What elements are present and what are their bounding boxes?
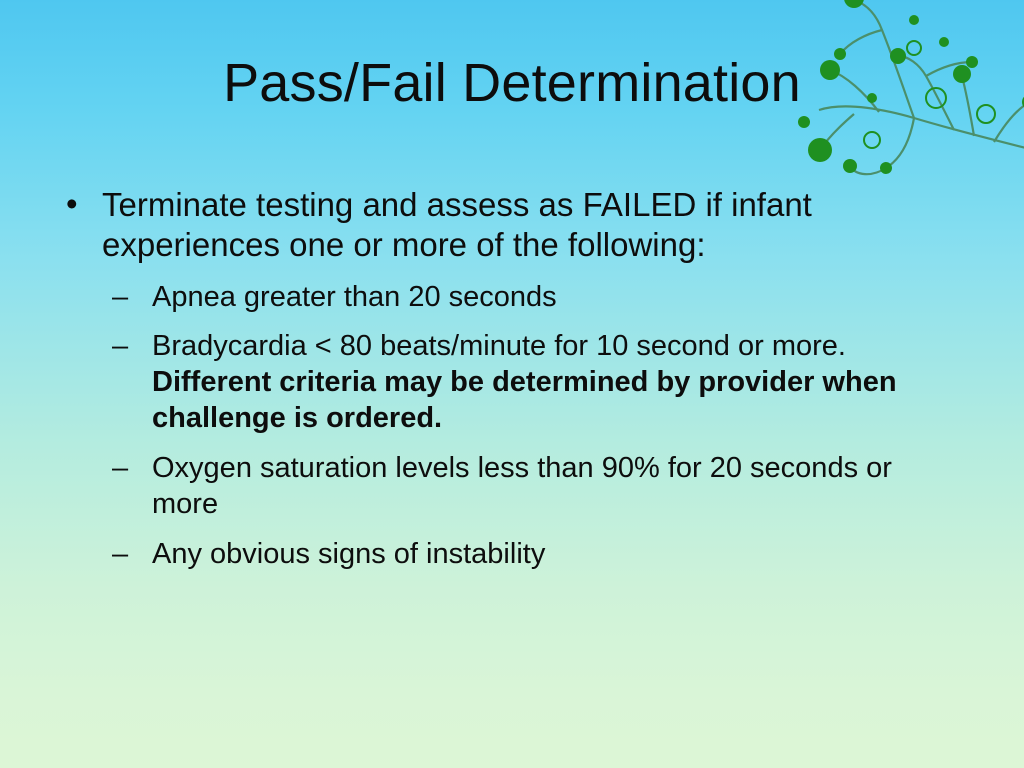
page-title: Pass/Fail Determination <box>0 54 1024 113</box>
bullet-item-level2: – Apnea greater than 20 seconds <box>56 280 966 316</box>
bullet-item-level1-text: Terminate testing and assess as FAILED i… <box>102 186 812 263</box>
bullet-item-level2-text: Oxygen saturation levels less than 90% f… <box>152 452 892 520</box>
bullet-item-level2-bold: Different criteria may be determined by … <box>152 366 897 434</box>
dash-glyph-icon: – <box>112 451 128 487</box>
bullet-item-level2: – Bradycardia < 80 beats/minute for 10 s… <box>56 329 966 437</box>
bullet-glyph-icon: • <box>66 184 78 224</box>
bullet-item-level2: – Oxygen saturation levels less than 90%… <box>56 451 966 523</box>
bullet-item-level2-text: Apnea greater than 20 seconds <box>152 281 557 313</box>
dash-glyph-icon: – <box>112 329 128 365</box>
bullet-item-level2-text: Any obvious signs of instability <box>152 538 545 570</box>
bullet-item-level2: – Any obvious signs of instability <box>56 537 966 573</box>
dash-glyph-icon: – <box>112 537 128 573</box>
bullet-item-level2-text: Bradycardia < 80 beats/minute for 10 sec… <box>152 330 846 362</box>
dash-glyph-icon: – <box>112 280 128 316</box>
bullet-item-level1: • Terminate testing and assess as FAILED… <box>56 185 966 266</box>
slide: Pass/Fail Determination • Terminate test… <box>0 0 1024 768</box>
slide-body: • Terminate testing and assess as FAILED… <box>56 185 966 573</box>
